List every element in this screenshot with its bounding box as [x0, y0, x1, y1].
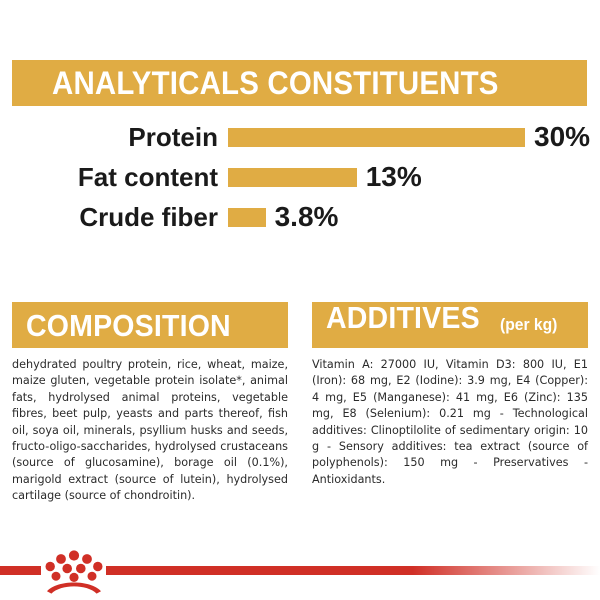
footer-brand-rule	[0, 545, 600, 600]
footer-rule-right	[106, 566, 600, 575]
chart-row-fat-content: Fat content 13%	[0, 158, 600, 196]
additives-heading-group: ADDITIVES (per kg)	[326, 302, 563, 333]
bar-track-crude-fiber: 3.8%	[228, 203, 338, 231]
analyticals-heading-text: ANALYTICALS CONSTITUENTS	[52, 67, 499, 99]
analyticals-bar-chart: Protein 30% Fat content 13% Crude fiber …	[0, 118, 600, 236]
bar-fill-fat-content	[228, 168, 357, 187]
additives-header: ADDITIVES (per kg)	[312, 302, 588, 348]
chart-row-protein: Protein 30%	[0, 118, 600, 156]
bar-fill-protein	[228, 128, 525, 147]
bar-label-fat-content: Fat content	[0, 164, 218, 190]
chart-row-crude-fiber: Crude fiber 3.8%	[0, 198, 600, 236]
composition-heading-text: COMPOSITION	[26, 310, 231, 341]
footer-rule-left	[0, 566, 41, 575]
additives-heading-suffix: (per kg)	[500, 316, 557, 333]
analyticals-constituents-header: ANALYTICALS CONSTITUENTS	[12, 60, 587, 106]
bar-track-protein: 30%	[228, 123, 590, 151]
bar-value-protein: 30%	[534, 123, 590, 151]
additives-heading-text: ADDITIVES	[326, 302, 480, 333]
bar-value-crude-fiber: 3.8%	[275, 203, 339, 231]
bar-value-fat-content: 13%	[366, 163, 422, 191]
additives-body-text: Vitamin A: 27000 IU, Vitamin D3: 800 IU,…	[312, 357, 588, 488]
product-info-panel: ANALYTICALS CONSTITUENTS Protein 30% Fat…	[0, 0, 600, 600]
bar-label-crude-fiber: Crude fiber	[0, 204, 218, 230]
bar-track-fat-content: 13%	[228, 163, 422, 191]
bar-label-protein: Protein	[0, 124, 218, 150]
composition-body-text: dehydrated poultry protein, rice, wheat,…	[12, 357, 288, 505]
bar-fill-crude-fiber	[228, 208, 266, 227]
royal-canin-crown-logo	[41, 546, 107, 594]
composition-header: COMPOSITION	[12, 302, 288, 348]
